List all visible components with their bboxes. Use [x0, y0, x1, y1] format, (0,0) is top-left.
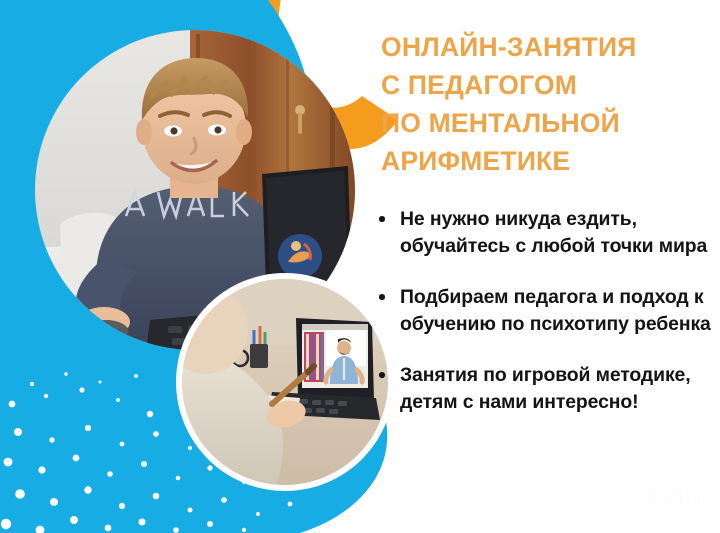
poster-canvas: ОНЛАЙН-ЗАНЯТИЯ С ПЕДАГОГОМ ПО МЕНТАЛЬНОЙ… [0, 0, 720, 533]
avito-watermark-label: Avito [645, 485, 704, 510]
bullet-dot-icon [379, 294, 385, 300]
bullet-dot-icon [379, 216, 385, 222]
bullet-dot-icon [379, 372, 385, 378]
headline-line-4: АРИФМЕТИКЕ [381, 142, 711, 180]
headline-line-3: ПО МЕНТАЛЬНОЙ [381, 104, 711, 142]
list-item: Не нужно никуда ездить, обучайтесь с люб… [379, 206, 714, 259]
list-item-label: Подбираем педагога и подход к обучению п… [400, 286, 711, 335]
headline-line-2: С ПЕДАГОГОМ [381, 66, 711, 104]
list-item: Подбираем педагога и подход к обучению п… [379, 284, 714, 337]
headline-line-1: ОНЛАЙН-ЗАНЯТИЯ [381, 28, 711, 66]
benefits-list: Не нужно никуда ездить, обучайтесь с люб… [379, 206, 714, 415]
avito-dots-logo [619, 487, 641, 509]
avito-watermark: Avito [619, 485, 704, 510]
list-item: Занятия по игровой методике, детям с нам… [379, 362, 714, 415]
list-item-label: Занятия по игровой методике, детям с нам… [400, 364, 691, 413]
page-headline: ОНЛАЙН-ЗАНЯТИЯ С ПЕДАГОГОМ ПО МЕНТАЛЬНОЙ… [381, 28, 711, 180]
list-item-label: Не нужно никуда ездить, обучайтесь с люб… [400, 208, 707, 257]
